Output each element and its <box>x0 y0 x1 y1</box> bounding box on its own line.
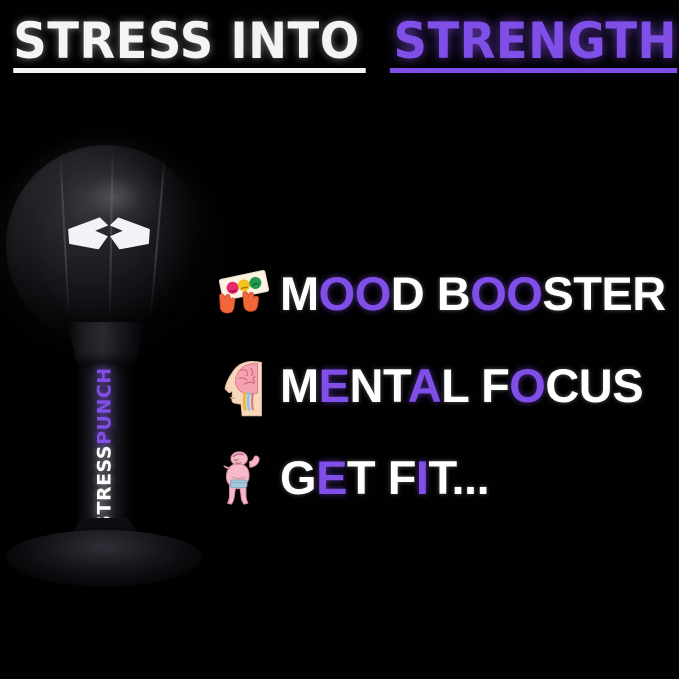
ball-seam-left <box>59 157 70 333</box>
angry-eye-left-icon <box>67 216 108 249</box>
segment: STER <box>542 267 665 320</box>
product-illustration: STRESSPUNCH <box>0 132 230 592</box>
segment: O <box>509 359 545 412</box>
feature-list: MOOD BOOSTER <box>214 248 679 524</box>
stand-base-ring <box>34 538 174 572</box>
feature-label-get-fit: GET FIT... <box>280 453 489 503</box>
segment: T <box>347 451 388 504</box>
segment: T... <box>428 451 489 504</box>
stand-neck <box>67 322 145 368</box>
segment: M <box>280 359 319 412</box>
punching-ball <box>6 145 206 345</box>
flexing-bodybuilder-icon <box>214 447 276 509</box>
segment: E <box>316 451 347 504</box>
feedback-survey-hands-icon <box>214 263 276 325</box>
segment: E <box>319 359 350 412</box>
title-part-purple: STRENGTH <box>389 14 676 73</box>
brand-name-punch: PUNCH <box>94 367 116 445</box>
segment: I <box>416 451 429 504</box>
segment: B <box>437 267 470 320</box>
segment: G <box>280 451 316 504</box>
segment: F <box>481 359 509 412</box>
segment: CUS <box>545 359 643 412</box>
feature-row-get-fit: GET FIT... <box>214 432 679 524</box>
segment: OO <box>470 267 542 320</box>
feature-row-mood-booster: MOOD BOOSTER <box>214 248 679 340</box>
promo-image-canvas: STRESS INTOSTRENGTH STRESSPUNCH <box>0 0 679 679</box>
feature-row-mental-focus: MENTAL FOCUS <box>214 340 679 432</box>
brand-name-stress: STRESS <box>94 445 116 529</box>
segment: OO <box>319 267 391 320</box>
title-part-white: STRESS INTO <box>13 14 365 73</box>
segment: A <box>408 359 441 412</box>
head-with-brain-icon <box>214 355 276 417</box>
brand-label: STRESSPUNCH <box>76 364 134 532</box>
feature-label-mental-focus: MENTAL FOCUS <box>280 361 643 411</box>
segment: F <box>388 451 416 504</box>
segment: NT <box>350 359 408 412</box>
ball-seam-middle <box>108 149 113 339</box>
segment: L <box>441 359 481 412</box>
angry-eye-right-icon <box>109 216 150 249</box>
segment: M <box>280 267 319 320</box>
ball-seam-right <box>148 157 165 333</box>
segment: D <box>391 267 437 320</box>
page-title: STRESS INTOSTRENGTH <box>0 14 679 73</box>
feature-label-mood-booster: MOOD BOOSTER <box>280 269 666 319</box>
